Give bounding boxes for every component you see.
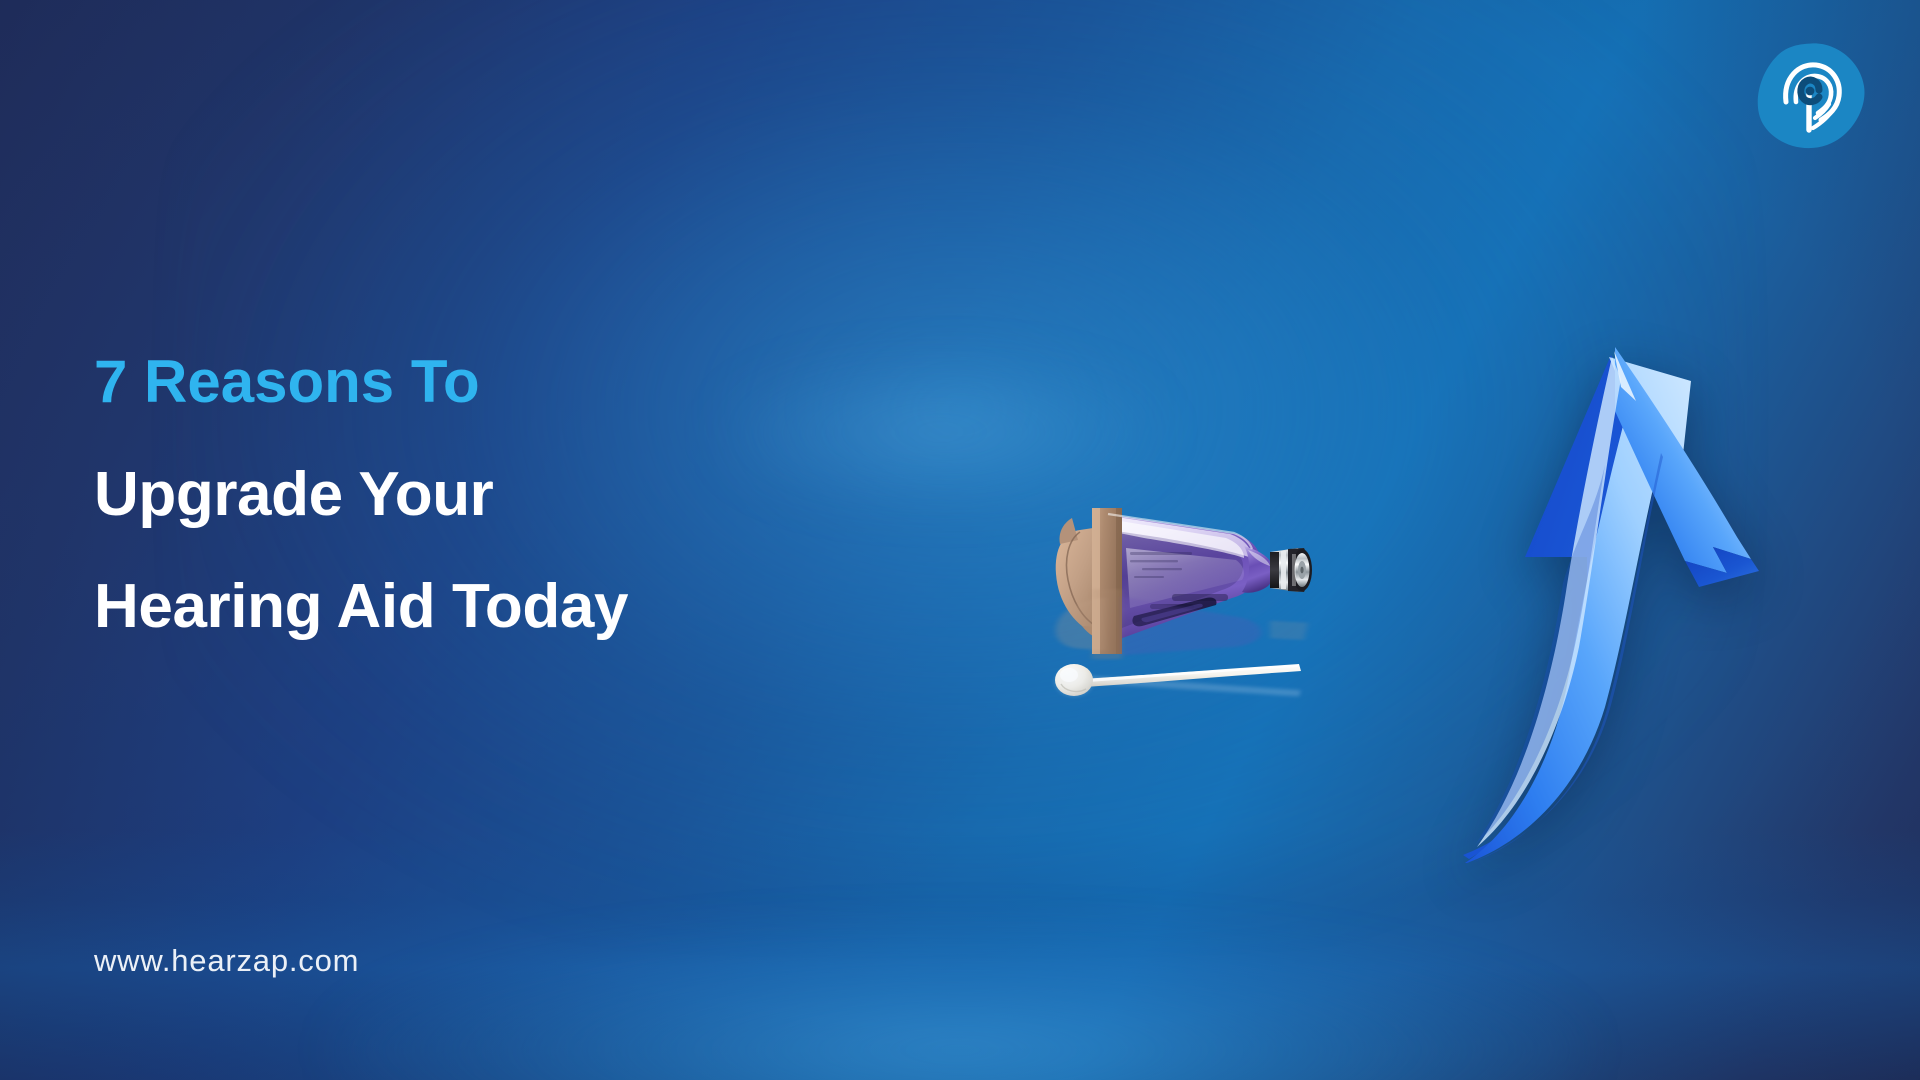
upward-curved-arrow-icon xyxy=(1455,335,1775,875)
headline-line-2: Upgrade Your xyxy=(94,464,994,526)
hearing-aid-tube-reflection xyxy=(1055,668,1305,700)
headline-line-1: 7 Reasons To xyxy=(94,352,994,412)
website-url[interactable]: www.hearzap.com xyxy=(94,943,359,979)
hearzap-logo[interactable] xyxy=(1753,38,1869,154)
promo-banner: 7 Reasons To Upgrade Your Hearing Aid To… xyxy=(0,0,1920,1080)
growth-arrow xyxy=(1455,335,1775,875)
tube-reflection-icon xyxy=(1055,668,1305,700)
headline-line-3: Hearing Aid Today xyxy=(94,576,994,638)
ear-soundwave-icon xyxy=(1753,38,1869,154)
headline-block: 7 Reasons To Upgrade Your Hearing Aid To… xyxy=(94,352,994,638)
